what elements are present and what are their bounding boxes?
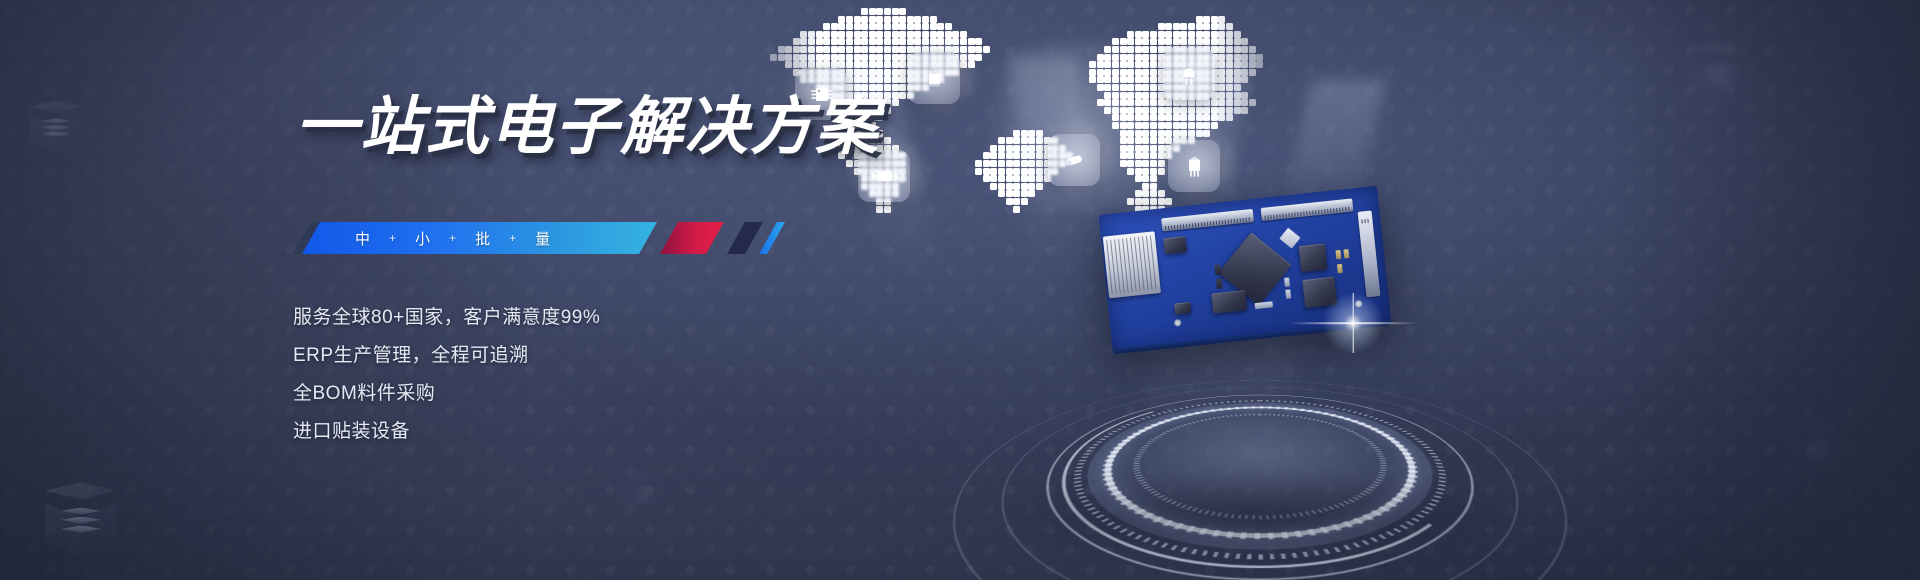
right-fade-overlay (1620, 0, 1920, 580)
promo-banner: 一站式电子解决方案 中+小+批+量 服务全球80+国家，客户满意度99%ERP生… (0, 0, 1920, 580)
